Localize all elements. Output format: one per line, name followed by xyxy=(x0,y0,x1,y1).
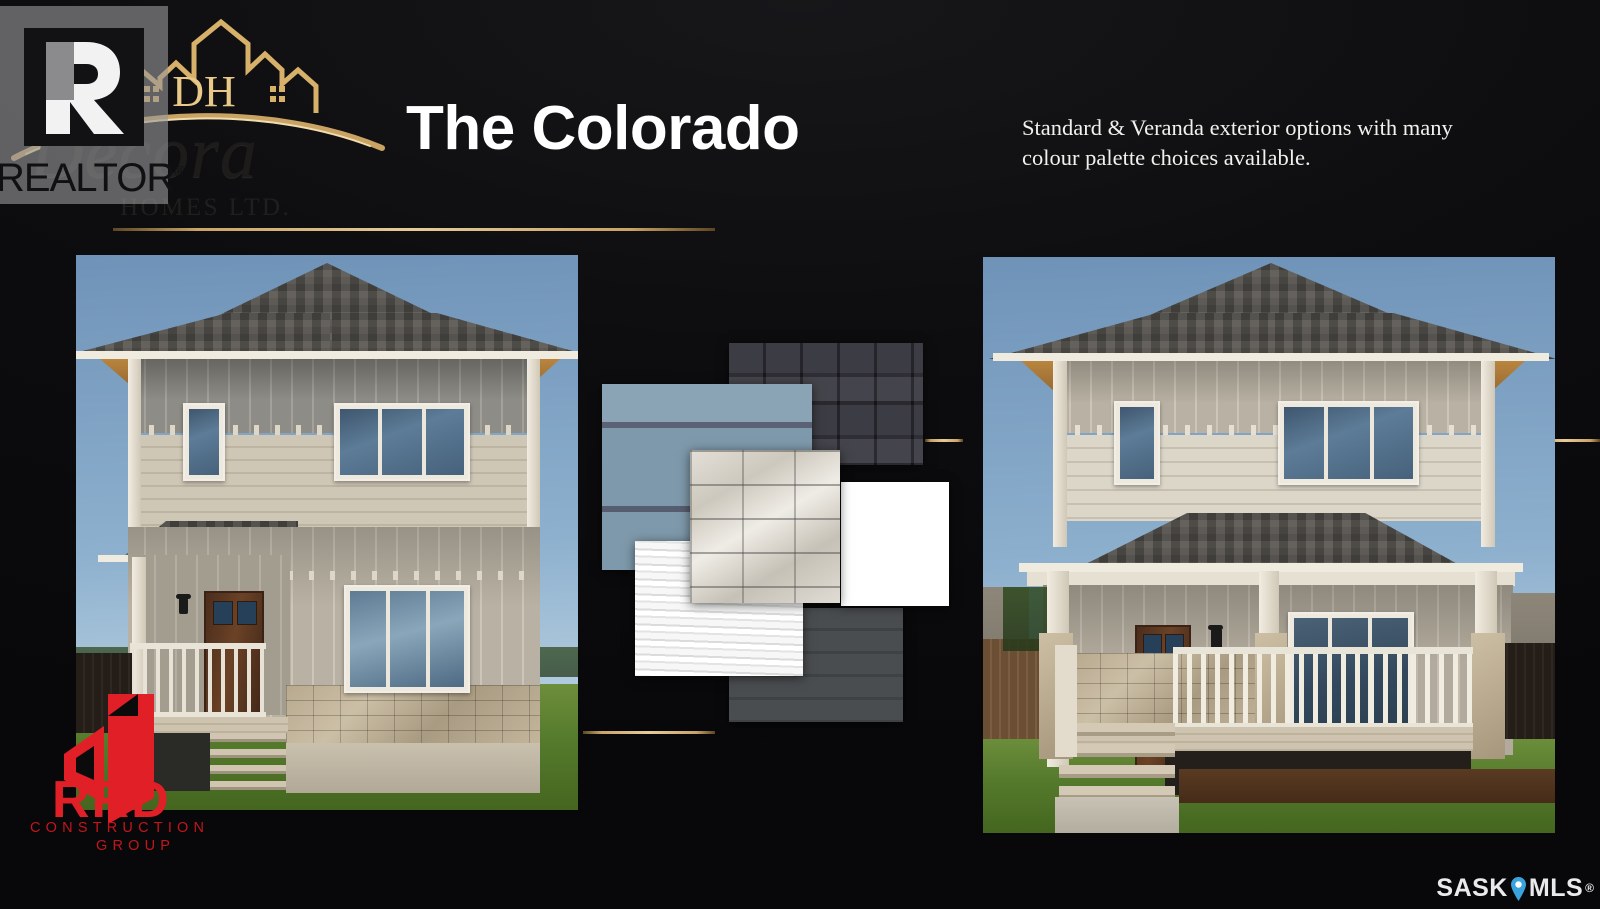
walkway xyxy=(1055,797,1179,833)
railing-cap xyxy=(1173,647,1473,654)
window-glass xyxy=(1120,407,1154,479)
stone-veneer-base xyxy=(286,685,540,745)
realtor-registered-mark: ® xyxy=(174,164,185,181)
stone-pier-right xyxy=(1471,633,1505,759)
realtor-r-icon xyxy=(24,28,144,146)
gold-divider-bottom xyxy=(583,731,715,734)
window-mullion xyxy=(426,591,430,687)
window-glass xyxy=(189,409,219,475)
sask-mls-watermark: SASK MLS ® xyxy=(1436,871,1594,905)
upper-left-window xyxy=(1114,401,1160,485)
upper-left-window xyxy=(183,403,225,481)
window-glass xyxy=(350,591,464,687)
map-pin-icon xyxy=(1510,876,1527,901)
gold-divider-top xyxy=(113,228,715,231)
foundation-band xyxy=(286,743,540,793)
upper-right-window-triple xyxy=(1278,401,1419,485)
veranda-railing xyxy=(1173,647,1473,729)
slide-canvas: DH Decora HOMES LTD. REALTOR® The Colora… xyxy=(0,0,1600,909)
svg-text:DH: DH xyxy=(172,67,236,116)
porch-light-icon xyxy=(179,598,188,614)
window-mullion xyxy=(422,409,426,475)
door-lite xyxy=(213,601,233,625)
gold-divider-mid-left xyxy=(925,439,963,442)
left-corner-trim xyxy=(128,359,141,535)
upper-fascia xyxy=(76,351,578,359)
main-batten-drip-edge xyxy=(288,571,540,580)
realtor-label: REALTOR® xyxy=(0,156,185,201)
veranda-elevation-photo xyxy=(983,257,1555,833)
window-mullion xyxy=(378,409,382,475)
mls-suffix: MLS xyxy=(1529,874,1583,903)
upper-right-window-triple xyxy=(334,403,470,481)
window-glass xyxy=(1284,407,1413,479)
page-subtitle: Standard & Veranda exterior options with… xyxy=(1022,113,1492,173)
wood-fence-left xyxy=(983,639,1041,739)
door-lite xyxy=(237,601,257,625)
realtor-watermark: REALTOR® xyxy=(0,6,168,204)
window-mullion xyxy=(1370,407,1374,479)
rrd-subline-group: GROUP xyxy=(96,838,175,854)
main-triple-window xyxy=(344,585,470,693)
rrd-subline-construction: CONSTRUCTION xyxy=(30,820,209,836)
realtor-r-block xyxy=(24,28,144,146)
mulch-bed xyxy=(1179,769,1555,803)
mls-prefix: SASK xyxy=(1436,874,1507,903)
window-mullion xyxy=(1324,407,1328,479)
window-glass xyxy=(340,409,464,475)
window-mullion xyxy=(386,591,390,687)
swatch-pure-white-trim xyxy=(841,482,949,606)
railing-balusters xyxy=(1173,647,1473,729)
upper-fascia xyxy=(993,353,1549,361)
page-title: The Colorado xyxy=(406,93,800,164)
swatch-grey-stone-veneer xyxy=(690,450,840,603)
mls-registered-mark: ® xyxy=(1585,881,1594,895)
right-corner-trim xyxy=(1481,361,1495,547)
left-corner-trim xyxy=(1053,361,1067,547)
step-railing xyxy=(1055,645,1077,757)
railing-cap xyxy=(130,643,266,649)
right-corner-trim xyxy=(527,359,540,535)
